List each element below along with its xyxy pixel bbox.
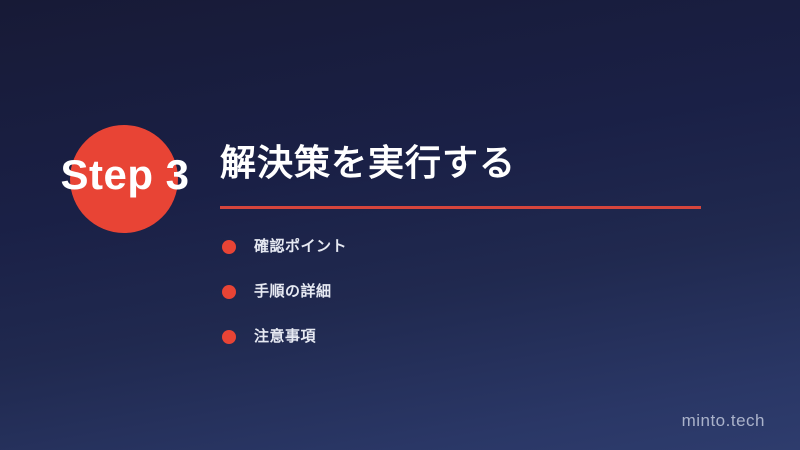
bullet-item-label: 手順の詳細 [254, 282, 332, 302]
footer-brand: minto.tech [682, 410, 765, 432]
bullet-dot-icon [222, 240, 236, 254]
slide-content: 解決策を実行する 確認ポイント 手順の詳細 注意事項 [220, 140, 720, 367]
bullet-item-label: 注意事項 [254, 327, 316, 347]
step-badge: Step 3 [40, 110, 210, 240]
bullet-dot-icon [222, 285, 236, 299]
step-badge-label: Step 3 [40, 150, 210, 200]
bullet-item-label: 確認ポイント [254, 237, 347, 257]
list-item: 注意事項 [220, 322, 720, 352]
list-item: 確認ポイント [220, 232, 720, 262]
bullet-list: 確認ポイント 手順の詳細 注意事項 [220, 232, 720, 352]
list-item: 手順の詳細 [220, 277, 720, 307]
presentation-slide: Step 3 解決策を実行する 確認ポイント 手順の詳細 注意事項 minto.… [0, 0, 800, 450]
title-divider [220, 206, 701, 209]
slide-title: 解決策を実行する [220, 140, 720, 186]
bullet-dot-icon [222, 330, 236, 344]
